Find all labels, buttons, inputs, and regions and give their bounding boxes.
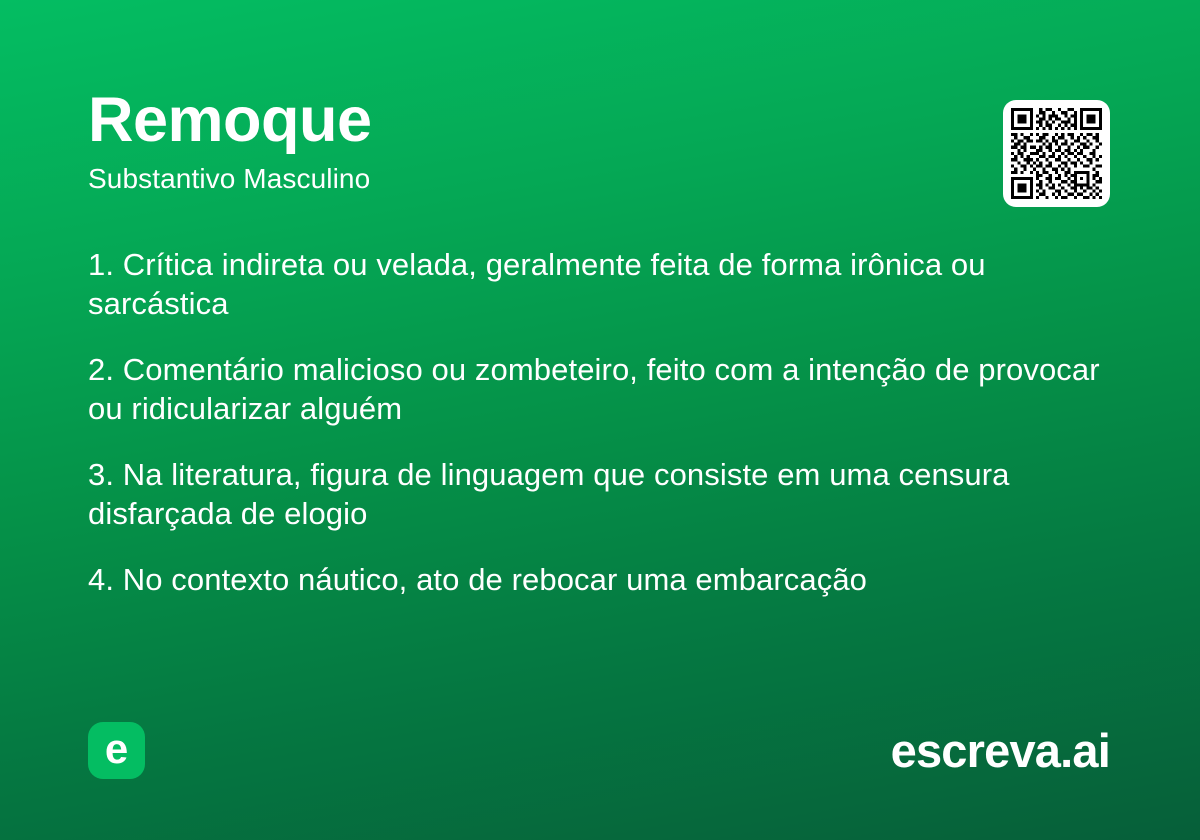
card-header: Remoque Substantivo Masculino: [88, 88, 1110, 207]
definition-item: 4. No contexto náutico, ato de rebocar u…: [88, 560, 1118, 599]
logo-letter: e: [105, 728, 128, 770]
word-block: Remoque Substantivo Masculino: [88, 88, 372, 196]
dictionary-card: Remoque Substantivo Masculino: [0, 0, 1200, 840]
word-title: Remoque: [88, 88, 372, 152]
word-class-label: Substantivo Masculino: [88, 162, 372, 196]
escreva-logo-icon: e: [88, 722, 145, 779]
qr-code-icon[interactable]: [1003, 100, 1110, 207]
brand-name: escreva.ai: [891, 727, 1110, 774]
definitions-list: 1. Crítica indireta ou velada, geralment…: [88, 245, 1118, 599]
definition-item: 1. Crítica indireta ou velada, geralment…: [88, 245, 1118, 323]
card-footer: e escreva.ai: [88, 721, 1110, 779]
definition-item: 3. Na literatura, figura de linguagem qu…: [88, 455, 1118, 533]
definition-item: 2. Comentário malicioso ou zombeteiro, f…: [88, 350, 1118, 428]
